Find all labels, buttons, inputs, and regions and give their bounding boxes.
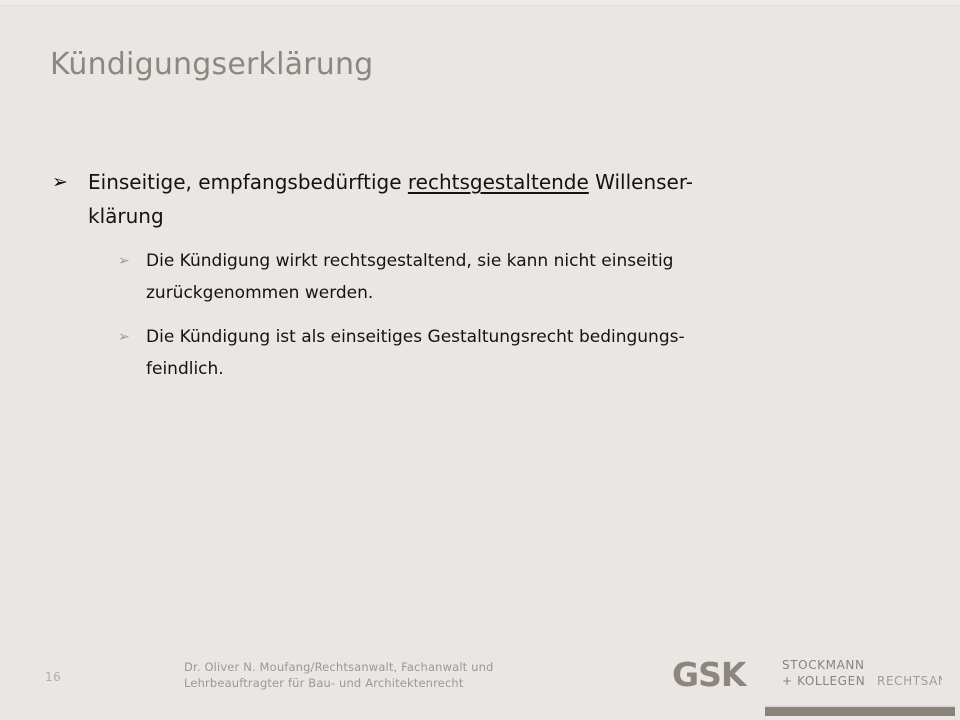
bullet-text-before: Einseitige, empfangsbedürftige <box>88 170 408 194</box>
subbullet-arrow-icon: ➢ <box>118 245 146 277</box>
footer-credit-line-2: Lehrbeauftragter für Bau- und Architekte… <box>184 675 614 691</box>
subbullet-text: Die Kündigung ist als einseitiges Gestal… <box>146 321 910 385</box>
slide-canvas: Kündigungserklärung ➢ Einseitige, empfan… <box>0 0 960 720</box>
subbullet-text: Die Kündigung wirkt rechtsgestaltend, si… <box>146 245 910 309</box>
accent-bar <box>765 707 955 716</box>
subbullet-line1: Die Kündigung wirkt rechtsgestaltend, si… <box>146 251 673 271</box>
subbullet-line2: feindlich. <box>146 353 910 385</box>
bullet-text-lastline: klärung <box>88 199 910 233</box>
subbullet-item: ➢ Die Kündigung wirkt rechtsgestaltend, … <box>50 245 910 309</box>
bullet-text-underlined: rechtsgestaltende <box>408 170 589 194</box>
logo-mark: GSK <box>672 655 748 694</box>
svg-text:STOCKMANN: STOCKMANN <box>782 658 865 672</box>
slide-body: ➢ Einseitige, empfangsbedürftige rechtsg… <box>50 165 910 385</box>
page-number: 16 <box>45 670 61 684</box>
footer-credit: Dr. Oliver N. Moufang/Rechtsanwalt, Fach… <box>184 659 614 691</box>
subbullet-item: ➢ Die Kündigung ist als einseitiges Gest… <box>50 321 910 385</box>
top-edge-hairline <box>0 5 960 6</box>
bullet-arrow-icon: ➢ <box>50 165 88 199</box>
svg-text:RECHTSANWÄLTE: RECHTSANWÄLTE <box>877 673 942 688</box>
subbullet-line2: zurückgenommen werden. <box>146 277 910 309</box>
subbullet-arrow-icon: ➢ <box>118 321 146 353</box>
slide-title: Kündigungserklärung <box>50 46 373 84</box>
bullet-text-after: Willenser- <box>589 170 693 194</box>
bullet-level1-text: Einseitige, empfangsbedürftige rechtsges… <box>88 165 910 233</box>
gsk-logo: GSK STOCKMANN + KOLLEGEN RECHTSANWÄLTE <box>672 655 942 697</box>
bullet-level1: ➢ Einseitige, empfangsbedürftige rechtsg… <box>50 165 910 233</box>
subbullet-line1: Die Kündigung ist als einseitiges Gestal… <box>146 327 685 347</box>
slide-footer: 16 Dr. Oliver N. Moufang/Rechtsanwalt, F… <box>0 648 960 720</box>
footer-credit-line-1: Dr. Oliver N. Moufang/Rechtsanwalt, Fach… <box>184 659 614 675</box>
svg-text:+ KOLLEGEN: + KOLLEGEN <box>782 674 865 688</box>
